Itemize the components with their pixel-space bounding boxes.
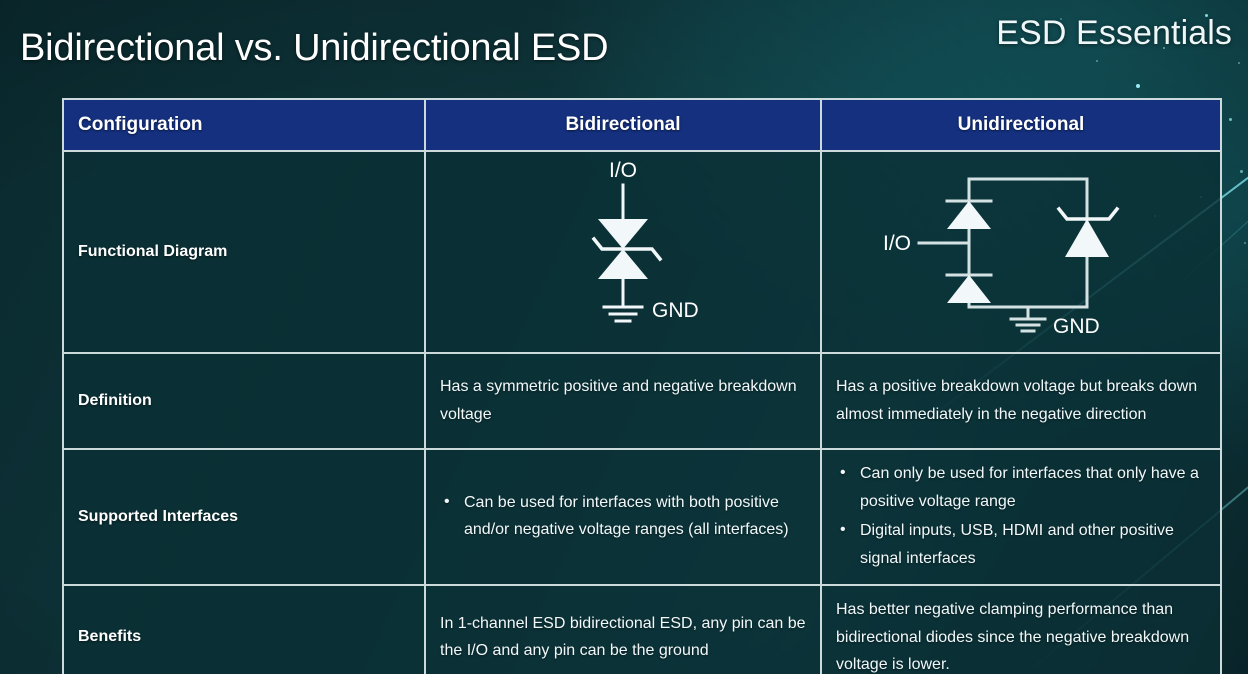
bullet-list: Can be used for interfaces with both pos… xyxy=(440,489,806,544)
unidirectional-circuit-icon: I/O GND xyxy=(861,157,1181,347)
slide-header: Bidirectional vs. Unidirectional ESD ESD… xyxy=(0,0,1248,92)
table-header: Configuration Bidirectional Unidirection… xyxy=(63,99,1221,151)
column-header-unidirectional: Unidirectional xyxy=(821,99,1221,151)
supported-interfaces-unidirectional: Can only be used for interfaces that onl… xyxy=(821,449,1221,585)
column-header-configuration: Configuration xyxy=(63,99,425,151)
benefits-bidirectional: In 1-channel ESD bidirectional ESD, any … xyxy=(425,585,821,674)
io-label: I/O xyxy=(609,159,637,182)
table-body: Functional Diagram xyxy=(63,151,1221,674)
diode-triangle-down xyxy=(598,219,648,249)
comparison-table: Configuration Bidirectional Unidirection… xyxy=(62,98,1222,674)
definition-bidirectional: Has a symmetric positive and negative br… xyxy=(425,353,821,449)
diode-triangle-up xyxy=(598,249,648,279)
zener-diode xyxy=(1065,219,1109,257)
bidirectional-functional-diagram: I/O GND xyxy=(425,151,821,353)
row-label-functional-diagram: Functional Diagram xyxy=(63,151,425,353)
deck-kicker: ESD Essentials xyxy=(996,14,1232,53)
row-label-supported-interfaces: Supported Interfaces xyxy=(63,449,425,585)
supported-interfaces-bidirectional: Can be used for interfaces with both pos… xyxy=(425,449,821,585)
list-item: Can only be used for interfaces that onl… xyxy=(836,460,1206,515)
steering-diode-lower xyxy=(947,275,991,303)
table-row: Functional Diagram xyxy=(63,151,1221,353)
row-label-benefits: Benefits xyxy=(63,585,425,674)
row-label-definition: Definition xyxy=(63,353,425,449)
table-row: Definition Has a symmetric positive and … xyxy=(63,353,1221,449)
table-row: Benefits In 1-channel ESD bidirectional … xyxy=(63,585,1221,674)
page-title: Bidirectional vs. Unidirectional ESD xyxy=(20,27,608,70)
io-label: I/O xyxy=(883,232,911,255)
bullet-list: Can only be used for interfaces that onl… xyxy=(836,460,1206,572)
steering-diode-upper xyxy=(947,201,991,229)
gnd-label: GND xyxy=(1053,315,1100,338)
unidirectional-functional-diagram: I/O GND xyxy=(821,151,1221,353)
definition-unidirectional: Has a positive breakdown voltage but bre… xyxy=(821,353,1221,449)
column-header-bidirectional: Bidirectional xyxy=(425,99,821,151)
bidirectional-tvs-symbol-icon: I/O GND xyxy=(528,157,718,347)
list-item: Digital inputs, USB, HDMI and other posi… xyxy=(836,517,1206,572)
list-item: Can be used for interfaces with both pos… xyxy=(440,489,806,544)
gnd-label: GND xyxy=(652,299,699,322)
table-row: Supported Interfaces Can be used for int… xyxy=(63,449,1221,585)
table-header-row: Configuration Bidirectional Unidirection… xyxy=(63,99,1221,151)
benefits-unidirectional: Has better negative clamping performance… xyxy=(821,585,1221,674)
